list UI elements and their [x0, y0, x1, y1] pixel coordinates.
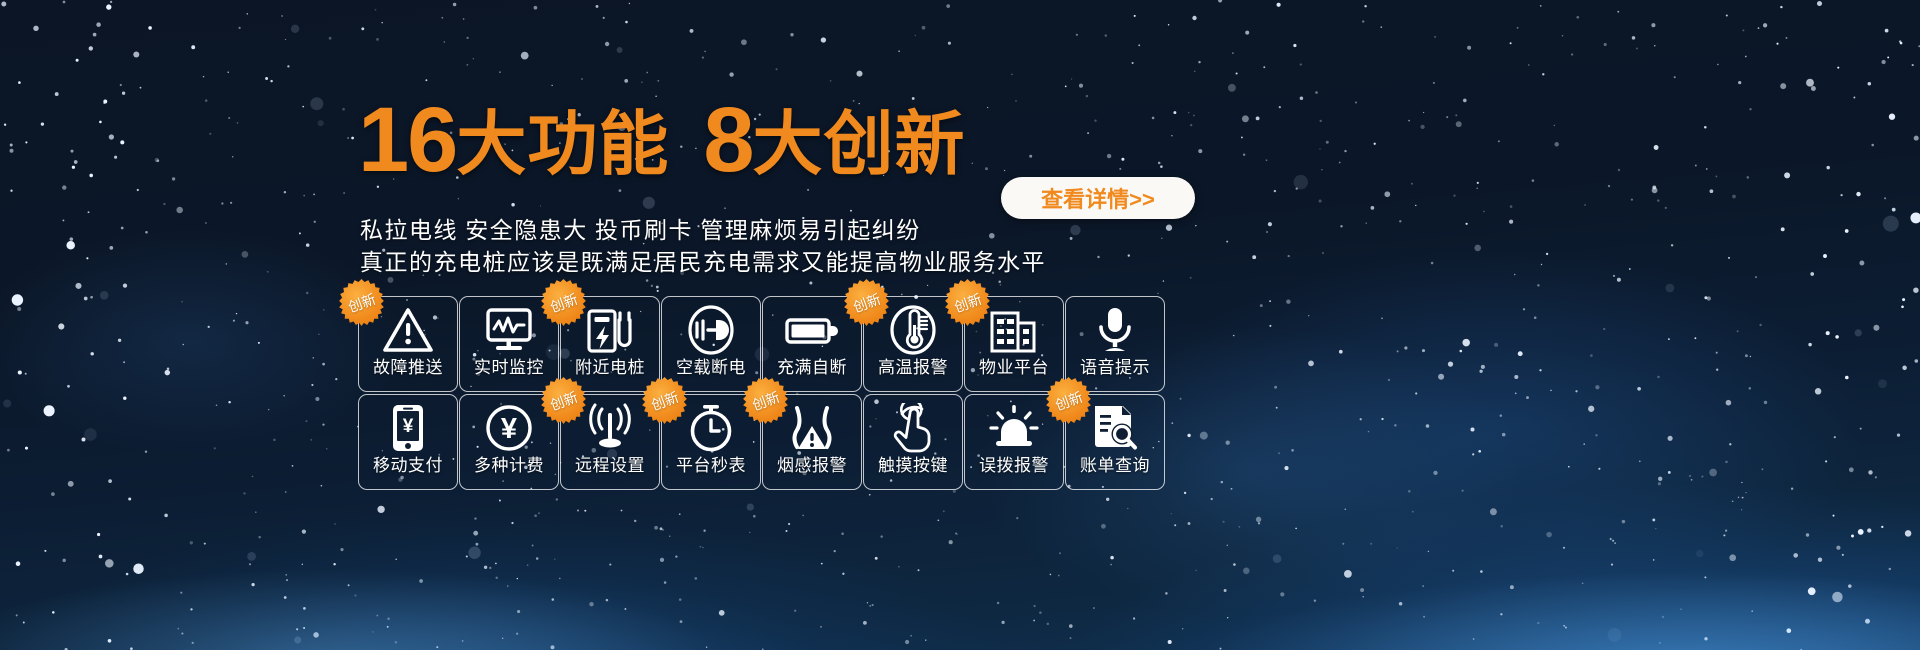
innovation-badge-label: 创新 — [648, 386, 681, 414]
feature-tile-烟感报警[interactable]: 创新烟感报警 — [762, 394, 862, 490]
headline-number-16: 16 — [358, 89, 456, 191]
feature-tile-label: 误拨报警 — [979, 457, 1049, 474]
feature-tile-高温报警[interactable]: 创新高温报警 — [863, 296, 963, 392]
feature-tile-label: 高温报警 — [878, 359, 948, 376]
monitor-waveform-icon — [460, 301, 558, 359]
touch-hand-icon — [864, 399, 962, 457]
feature-tile-移动支付[interactable]: ¥移动支付 — [358, 394, 458, 490]
feature-tile-多种计费[interactable]: ¥多种计费 — [459, 394, 559, 490]
plug-circle-icon — [662, 301, 760, 359]
feature-row-2: ¥移动支付¥多种计费创新远程设置创新平台秒表创新烟感报警触摸按键误拨报警创新账单… — [358, 394, 1165, 490]
feature-tile-label: 物业平台 — [979, 359, 1049, 376]
feature-grid: 创新故障推送实时监控创新附近电桩空载断电充满自断创新高温报警创新物业平台语音提示… — [358, 296, 1165, 490]
innovation-badge-label: 创新 — [850, 288, 883, 316]
feature-tile-空载断电[interactable]: 空载断电 — [661, 296, 761, 392]
view-details-label: 查看详情>> — [1041, 182, 1155, 214]
feature-tile-label: 移动支付 — [373, 457, 443, 474]
feature-tile-label: 远程设置 — [575, 457, 645, 474]
feature-tile-label: 故障推送 — [373, 359, 443, 376]
subtitle-line-1: 私拉电线 安全隐患大 投币刷卡 管理麻烦易引起纠纷 — [360, 211, 921, 245]
feature-tile-物业平台[interactable]: 创新物业平台 — [964, 296, 1064, 392]
siren-icon — [965, 399, 1063, 457]
innovation-badge-label: 创新 — [951, 288, 984, 316]
feature-tile-label: 多种计费 — [474, 457, 544, 474]
feature-tile-附近电桩[interactable]: 创新附近电桩 — [560, 296, 660, 392]
subtitle-line-2: 真正的充电桩应该是既满足居民充电需求又能提高物业服务水平 — [360, 243, 1046, 277]
feature-tile-平台秒表[interactable]: 创新平台秒表 — [661, 394, 761, 490]
feature-tile-label: 触摸按键 — [878, 457, 948, 474]
feature-tile-实时监控[interactable]: 实时监控 — [459, 296, 559, 392]
headline-text-innovations: 大创新 — [753, 105, 966, 183]
promo-banner: 16大功能8大创新 私拉电线 安全隐患大 投币刷卡 管理麻烦易引起纠纷 真正的充… — [0, 0, 1920, 650]
feature-tile-充满自断[interactable]: 充满自断 — [762, 296, 862, 392]
innovation-badge-label: 创新 — [547, 386, 580, 414]
phone-yuan-icon: ¥ — [359, 399, 457, 457]
feature-tile-触摸按键[interactable]: 触摸按键 — [863, 394, 963, 490]
innovation-badge-label: 创新 — [547, 288, 580, 316]
headline-number-8: 8 — [703, 89, 752, 191]
feature-row-1: 创新故障推送实时监控创新附近电桩空载断电充满自断创新高温报警创新物业平台语音提示 — [358, 296, 1165, 392]
feature-tile-误拨报警[interactable]: 误拨报警 — [964, 394, 1064, 490]
headline-text-functions: 大功能 — [456, 105, 669, 183]
feature-tile-远程设置[interactable]: 创新远程设置 — [560, 394, 660, 490]
svg-text:¥: ¥ — [501, 413, 517, 445]
yuan-circle-icon: ¥ — [460, 399, 558, 457]
feature-tile-语音提示[interactable]: 语音提示 — [1065, 296, 1165, 392]
svg-text:¥: ¥ — [403, 416, 414, 437]
feature-tile-账单查询[interactable]: 创新账单查询 — [1065, 394, 1165, 490]
feature-tile-label: 实时监控 — [474, 359, 544, 376]
feature-tile-label: 空载断电 — [676, 359, 746, 376]
battery-full-icon — [763, 301, 861, 359]
feature-tile-label: 烟感报警 — [777, 457, 847, 474]
microphone-icon — [1066, 301, 1164, 359]
feature-tile-label: 充满自断 — [777, 359, 847, 376]
innovation-badge-label: 创新 — [345, 288, 378, 316]
feature-tile-label: 附近电桩 — [575, 359, 645, 376]
feature-tile-label: 账单查询 — [1080, 457, 1150, 474]
feature-tile-label: 平台秒表 — [676, 457, 746, 474]
nebula-glow — [0, 490, 1920, 650]
feature-tile-故障推送[interactable]: 创新故障推送 — [358, 296, 458, 392]
feature-tile-label: 语音提示 — [1080, 359, 1150, 376]
page-title: 16大功能8大创新 — [358, 94, 966, 186]
innovation-badge-label: 创新 — [749, 386, 782, 414]
view-details-button[interactable]: 查看详情>> — [1001, 177, 1195, 219]
innovation-badge-label: 创新 — [1052, 386, 1085, 414]
